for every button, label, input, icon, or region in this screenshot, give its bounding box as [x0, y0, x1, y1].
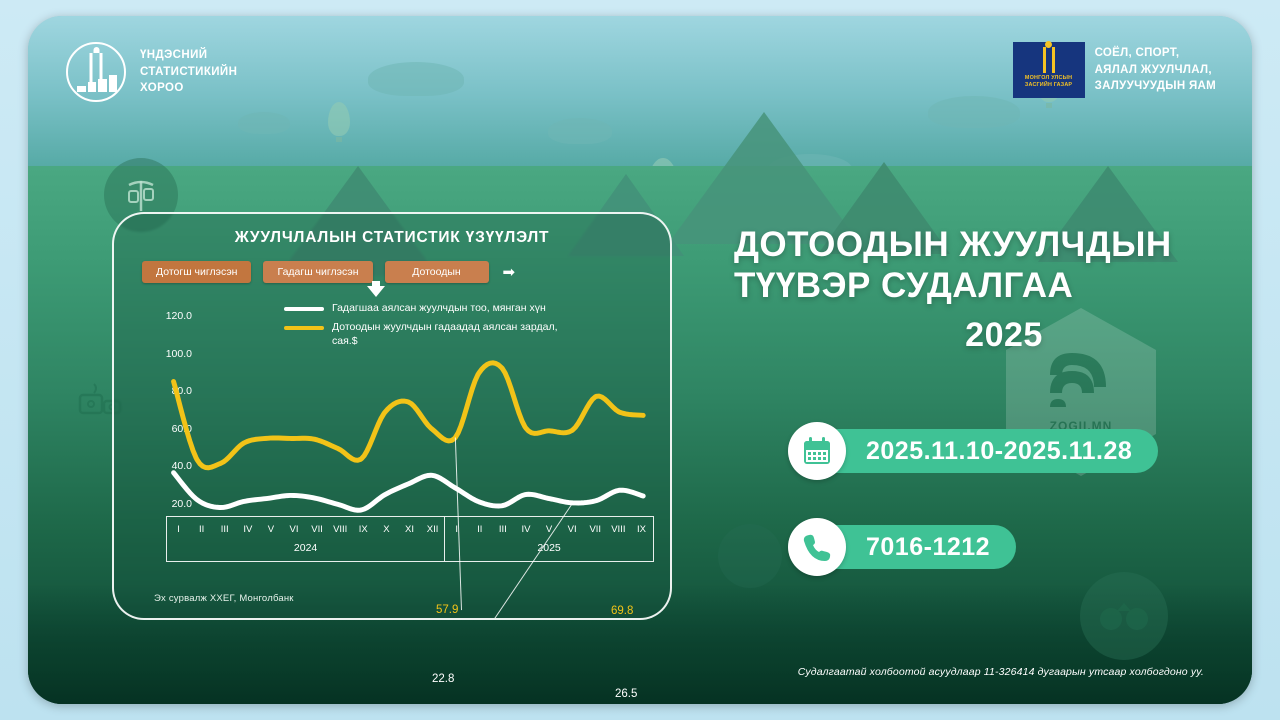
cloud-shape: [548, 118, 612, 144]
x-tick: III: [491, 524, 514, 535]
x-tick: IV: [514, 524, 537, 535]
legend-swatch-yellow: [284, 326, 324, 330]
y-tick-100: 100.0: [134, 348, 192, 386]
tab-domestic[interactable]: Дотоодын: [385, 261, 489, 283]
ministry-logo-text: СОЁЛ, СПОРТ, АЯЛАЛ ЖУУЛЧЛАЛ, ЗАЛУУЧУУДЫН…: [1095, 45, 1216, 95]
cloud-shape: [928, 96, 1020, 128]
x-tick: X: [375, 524, 398, 535]
selected-tab-caret-icon: [367, 286, 385, 297]
ministry-logo: МОНГОЛ УЛСЫН ЗАСГИЙН ГАЗАР СОЁЛ, СПОРТ, …: [1013, 42, 1216, 98]
poster-stage: ҮНДЭСНИЙ СТАТИСТИКИЙН ХОРОО МОНГОЛ УЛСЫН…: [0, 0, 1280, 720]
poster-panel: ҮНДЭСНИЙ СТАТИСТИКИЙН ХОРОО МОНГОЛ УЛСЫН…: [28, 16, 1252, 704]
chart-legend: Гадагшаа аялсан жуулчдын тоо, мянган хүн…: [284, 302, 572, 354]
y-tick-80: 80.0: [134, 385, 192, 423]
x-ticks-2024: I II III IV V VI VII VIII IX X XI XII: [167, 517, 444, 541]
headline-year: 2025: [734, 315, 1252, 355]
page-title: ДОТООДЫН ЖУУЛЧДЫН ТҮҮВЭР СУДАЛГАА 2025: [734, 224, 1252, 355]
legend-item-outbound-spending: Дотоодын жуулчдын гадаадад аялсан зардал…: [284, 321, 572, 348]
thermos-icon: [1178, 346, 1242, 434]
x-tick: VII: [584, 524, 607, 535]
x-tick: IX: [352, 524, 375, 535]
series-line-travelers: [174, 473, 644, 511]
x-axis-year-label: 2024: [167, 542, 444, 554]
x-axis-year-2024: I II III IV V VI VII VIII IX X XI XII 20…: [167, 517, 444, 561]
nso-line-3: ХОРОО: [140, 80, 237, 97]
x-tick: II: [190, 524, 213, 535]
gov-badge-line-2: ЗАСГИЙН ГАЗАР: [1025, 82, 1072, 89]
ministry-line-1: СОЁЛ, СПОРТ,: [1095, 45, 1216, 62]
legend-swatch-white: [284, 307, 324, 311]
x-tick: I: [167, 524, 190, 535]
tab-outbound[interactable]: Гадагш чиглэсэн: [263, 261, 372, 283]
indicator-tabs[interactable]: Дотогш чиглэсэн Гадагш чиглэсэн Дотоодын…: [142, 261, 670, 283]
legend-label-outbound-travelers: Гадагшаа аялсан жуулчдын тоо, мянган хүн: [332, 302, 546, 315]
survey-date-badge: 2025.11.10-2025.11.28: [788, 422, 1158, 480]
data-label-228: 22.8: [432, 673, 454, 685]
x-tick: II: [468, 524, 491, 535]
legend-item-outbound-travelers: Гадагшаа аялсан жуулчдын тоо, мянган хүн: [284, 302, 572, 315]
phone-icon: [788, 518, 846, 576]
x-tick: V: [538, 524, 561, 535]
nso-logo-text: ҮНДЭСНИЙ СТАТИСТИКИЙН ХОРОО: [140, 47, 237, 97]
statistics-card: ЖУУЛЧЛАЛЫН СТАТИСТИК ҮЗҮҮЛЭЛТ Дотогш чиг…: [112, 212, 672, 620]
data-label-265: 26.5: [615, 688, 637, 700]
phone-number-text: 7016-1212: [828, 525, 1016, 569]
x-axis: I II III IV V VI VII VIII IX X XI XII 20…: [166, 516, 654, 562]
tab-inbound[interactable]: Дотогш чиглэсэн: [142, 261, 251, 283]
x-tick: VII: [306, 524, 329, 535]
next-arrow-icon[interactable]: ➡: [503, 265, 516, 280]
card-title: ЖУУЛЧЛАЛЫН СТАТИСТИК ҮЗҮҮЛЭЛТ: [114, 229, 670, 247]
survey-date-text: 2025.11.10-2025.11.28: [828, 429, 1158, 473]
government-emblem-icon: МОНГОЛ УЛСЫН ЗАСГИЙН ГАЗАР: [1013, 42, 1085, 98]
legend-label-outbound-spending: Дотоодын жуулчдын гадаадад аялсан зардал…: [332, 321, 572, 348]
series-line-spending: [174, 363, 644, 468]
ministry-line-3: ЗАЛУУЧУУДЫН ЯАМ: [1095, 78, 1216, 95]
calendar-icon: [788, 422, 846, 480]
x-tick: IV: [236, 524, 259, 535]
x-tick: VI: [282, 524, 305, 535]
data-label-698: 69.8: [611, 605, 633, 617]
x-tick: VI: [561, 524, 584, 535]
nso-line-2: СТАТИСТИКИЙН: [140, 64, 237, 81]
x-tick: VIII: [329, 524, 352, 535]
nso-line-1: ҮНДЭСНИЙ: [140, 47, 237, 64]
phone-badge: 7016-1212: [788, 518, 1016, 576]
y-tick-120: 120.0: [134, 310, 192, 348]
cloud-shape: [368, 62, 464, 96]
y-tick-60: 60.0: [134, 423, 192, 461]
compass-icon: [718, 524, 782, 588]
y-axis-labels: 120.0 100.0 80.0 60.0 40.0 20.0: [134, 310, 192, 536]
data-label-579: 57.9: [436, 604, 458, 616]
hot-air-balloon-icon: [328, 102, 350, 136]
cloud-shape: [238, 112, 290, 134]
x-tick: IX: [630, 524, 653, 535]
nso-logo: ҮНДЭСНИЙ СТАТИСТИКИЙН ХОРОО: [66, 42, 237, 102]
soyombo-emblem-icon: [66, 42, 126, 102]
x-tick: I: [445, 524, 468, 535]
x-tick: V: [259, 524, 282, 535]
y-tick-40: 40.0: [134, 460, 192, 498]
x-tick: XI: [398, 524, 421, 535]
x-tick: III: [213, 524, 236, 535]
x-axis-year-label: 2025: [445, 542, 653, 554]
ministry-line-2: АЯЛАЛ ЖУУЛЧЛАЛ,: [1095, 62, 1216, 79]
headline-line-1: ДОТООДЫН ЖУУЛЧДЫН: [734, 225, 1172, 264]
x-tick: VIII: [607, 524, 630, 535]
x-tick: XII: [421, 524, 444, 535]
x-axis-year-2025: I II III IV V VI VII VIII IX 2025: [444, 517, 653, 561]
binoculars-icon: [1080, 572, 1168, 660]
x-ticks-2025: I II III IV V VI VII VIII IX: [445, 517, 653, 541]
source-note: Эх сурвалж ХХЕГ, Монголбанк: [154, 593, 294, 604]
footnote: Судалгаатай холбоотой асуудлаар 11-32641…: [798, 666, 1204, 678]
